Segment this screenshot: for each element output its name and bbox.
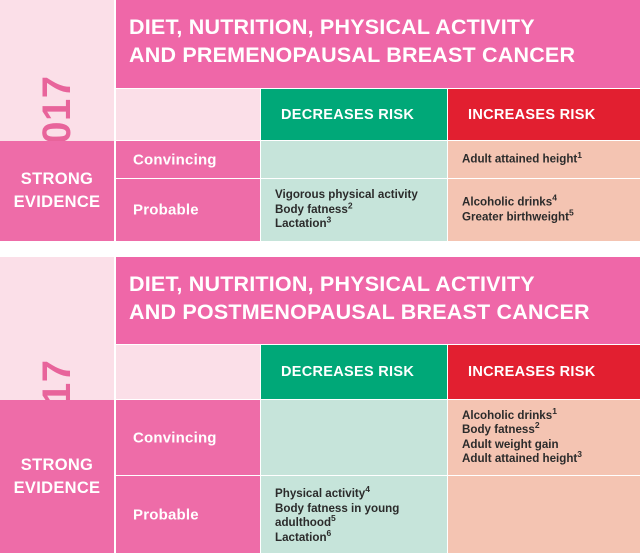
footnote-marker: 4 [365,484,370,494]
risk-factor-item: Vigorous physical activity [275,188,439,203]
table-title: DIET, NUTRITION, PHYSICAL ACTIVITY AND P… [116,0,640,88]
header-blank-cell [116,345,260,399]
header-increases-risk: INCREASES RISK [448,89,640,140]
grade-label-probable: Probable [133,202,199,219]
table-premenopausal: 2017 DIET, NUTRITION, PHYSICAL ACTIVITY … [0,0,640,241]
cell-convincing-increases: Adult attained height1 [448,141,640,178]
grade-cell-convincing: Convincing [116,400,260,475]
table-title: DIET, NUTRITION, PHYSICAL ACTIVITY AND P… [116,257,640,344]
footnote-marker: 5 [569,207,574,217]
item-list-probable-decreases: Vigorous physical activityBody fatness2L… [275,188,439,232]
grade-cell-probable: Probable [116,476,260,553]
evidence-strength-line-1: STRONG [0,454,114,477]
footnote-marker: 2 [535,420,540,430]
cell-convincing-decreases [261,141,447,178]
title-line-1: DIET, NUTRITION, PHYSICAL ACTIVITY [129,13,640,41]
evidence-strength-line-1: STRONG [0,168,114,191]
header-decreases-risk: DECREASES RISK [261,89,447,140]
header-decreases-label: DECREASES RISK [281,364,414,380]
evidence-strength-text: STRONG EVIDENCE [0,454,114,500]
footnote-marker: 6 [327,528,332,538]
risk-factor-item: Body fatness2 [462,423,632,438]
risk-factor-item: Alcoholic drinks4 [462,195,632,210]
risk-factor-item: Body fatness2 [275,203,439,218]
evidence-strength-line-2: EVIDENCE [0,191,114,214]
header-decreases-label: DECREASES RISK [281,107,414,123]
footnote-marker: 1 [577,149,582,159]
footnote-marker: 3 [327,214,332,224]
title-line-2: AND PREMENOPAUSAL BREAST CANCER [129,41,640,69]
table-postmenopausal: 2017 DIET, NUTRITION, PHYSICAL ACTIVITY … [0,257,640,553]
footnote-marker: 1 [552,405,557,415]
infographic-page: 2017 DIET, NUTRITION, PHYSICAL ACTIVITY … [0,0,640,553]
title-line-1: DIET, NUTRITION, PHYSICAL ACTIVITY [129,270,640,298]
item-list-convincing-increases: Alcoholic drinks1Body fatness2Adult weig… [462,408,632,466]
footnote-marker: 5 [331,513,336,523]
grade-cell-probable: Probable [116,179,260,241]
item-list-convincing-increases: Adult attained height1 [462,152,632,167]
risk-factor-item: Adult attained height3 [462,452,632,467]
footnote-marker: 3 [577,449,582,459]
header-blank-cell [116,89,260,140]
table-grid: DECREASES RISK INCREASES RISK STRONG EVI… [0,89,640,241]
cell-probable-decreases: Physical activity4Body fatness in young … [261,476,447,553]
risk-factor-item: Physical activity4 [275,487,439,502]
cell-probable-increases: Alcoholic drinks4Greater birthweight5 [448,179,640,241]
table-grid: DECREASES RISK INCREASES RISK STRONG EVI… [0,345,640,553]
evidence-strength-label: STRONG EVIDENCE [0,400,114,553]
grade-label-convincing: Convincing [133,429,217,446]
footnote-marker: 2 [348,200,353,210]
risk-factor-item: Greater birthweight5 [462,210,632,225]
item-list-probable-increases: Alcoholic drinks4Greater birthweight5 [462,195,632,224]
grade-label-convincing: Convincing [133,151,217,168]
cell-convincing-increases: Alcoholic drinks1Body fatness2Adult weig… [448,400,640,475]
risk-factor-item: Lactation3 [275,217,439,232]
evidence-strength-label: STRONG EVIDENCE [0,141,114,241]
grade-label-probable: Probable [133,506,199,523]
cell-probable-decreases: Vigorous physical activityBody fatness2L… [261,179,447,241]
cell-convincing-decreases [261,400,447,475]
risk-factor-item: Adult attained height1 [462,152,632,167]
evidence-strength-line-2: EVIDENCE [0,477,114,500]
evidence-strength-text: STRONG EVIDENCE [0,168,114,214]
header-decreases-risk: DECREASES RISK [261,345,447,399]
item-list-probable-decreases: Physical activity4Body fatness in young … [275,487,439,545]
header-increases-label: INCREASES RISK [468,107,595,123]
risk-factor-item: Lactation6 [275,531,439,546]
header-increases-label: INCREASES RISK [468,364,595,380]
risk-factor-item: Body fatness in young adulthood5 [275,502,439,531]
header-increases-risk: INCREASES RISK [448,345,640,399]
risk-factor-item: Alcoholic drinks1 [462,408,632,423]
title-line-2: AND POSTMENOPAUSAL BREAST CANCER [129,298,640,326]
cell-probable-increases [448,476,640,553]
footnote-marker: 4 [552,193,557,203]
risk-factor-item: Adult weight gain [462,438,632,453]
grade-cell-convincing: Convincing [116,141,260,178]
